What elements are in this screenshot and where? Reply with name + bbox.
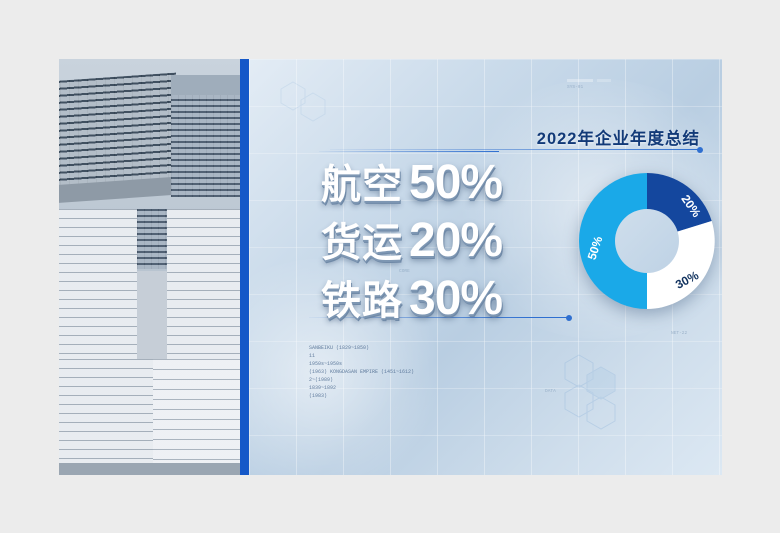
- stats-list: 航空 50% 货运 20% 铁路 30%: [321, 159, 502, 333]
- tech-panel: SYS-01 DATA NET-22 CORE 2022年企业年度总结 航空 5…: [249, 59, 722, 475]
- stat-row-rail: 铁路 30%: [321, 275, 502, 323]
- building-block-6: [153, 359, 240, 475]
- faint-label-2: DATA: [545, 389, 556, 394]
- deco-bar-1: [567, 79, 593, 82]
- building-block-4: [167, 209, 240, 359]
- accent-rule-top: [319, 151, 499, 152]
- donut-hole: [615, 209, 679, 273]
- page-title: 2022年企业年度总结: [537, 125, 700, 149]
- stat-value-freight: 20%: [409, 217, 502, 265]
- hex-decoration-2-icon: [269, 77, 339, 147]
- microtext-line-6: 1839~1892: [309, 384, 499, 392]
- building-base: [59, 463, 240, 475]
- faint-label-3: NET-22: [671, 331, 687, 336]
- microtext-line-5: 2~(1989): [309, 376, 499, 384]
- microtext-block: SANBEIKU (1829~1850) 11 1950s~1950s (196…: [309, 344, 499, 400]
- donut-chart: 50% 20% 30%: [575, 169, 719, 313]
- stat-row-freight: 货运 20%: [321, 217, 502, 265]
- microtext-line-1: SANBEIKU (1829~1850): [309, 344, 499, 352]
- building-block-1: [59, 73, 176, 190]
- microtext-line-7: (1983): [309, 392, 499, 400]
- stat-label-aviation: 航空: [321, 165, 403, 205]
- banner: SYS-01 DATA NET-22 CORE 2022年企业年度总结 航空 5…: [59, 59, 722, 475]
- hex-decoration-icon: [549, 349, 639, 439]
- building-block-2: [171, 93, 240, 197]
- deco-bar-2: [597, 79, 611, 82]
- stat-label-freight: 货运: [321, 223, 403, 263]
- stat-row-aviation: 航空 50%: [321, 159, 502, 207]
- stat-value-aviation: 50%: [409, 159, 502, 207]
- microtext-line-2: 11: [309, 352, 499, 360]
- title-underline: [330, 149, 700, 150]
- faint-label-1: SYS-01: [567, 85, 583, 90]
- microtext-line-3: 1950s~1950s: [309, 360, 499, 368]
- building-bridge: [137, 209, 167, 269]
- microtext-line-4: (1963) KONGDASAN EMPIRE (1451~1612): [309, 368, 499, 376]
- stat-label-rail: 铁路: [321, 281, 403, 321]
- blue-divider: [240, 59, 249, 475]
- stat-value-rail: 30%: [409, 275, 502, 323]
- building-roof-2: [171, 75, 240, 95]
- building-photo: [59, 59, 240, 475]
- building-gap: [137, 271, 167, 359]
- building-block-3: [59, 209, 137, 359]
- building-block-5: [59, 359, 153, 475]
- screenshot-stage: SYS-01 DATA NET-22 CORE 2022年企业年度总结 航空 5…: [0, 0, 780, 533]
